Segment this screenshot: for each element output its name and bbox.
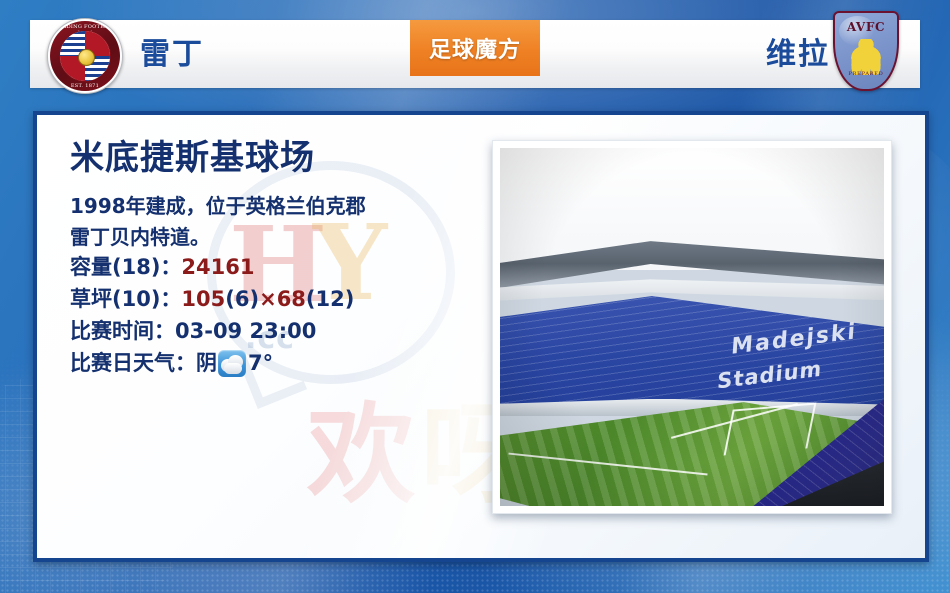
pitch-size-row: 草坪(10)：105(6)×68(12) (70, 284, 490, 316)
capacity-row: 容量(18)：24161 (70, 252, 490, 284)
cloudy-icon (218, 350, 246, 377)
reading-fc-crest[interactable]: READING FOOTBALL CLUB EST. 1871 (47, 18, 123, 94)
pitch-length-rank: (6) (225, 287, 259, 311)
pitch-length-value: 105 (181, 287, 225, 311)
pitch-width-rank: (12) (306, 287, 354, 311)
match-time-row: 比赛时间：03-09 23:00 (70, 316, 490, 348)
crest-shield-shape: AVFC PREPARED (833, 11, 899, 91)
stadium-info-block: 米底捷斯基球场 1998年建成，位于英格兰伯克郡 雷丁贝内特道。 容量(18)：… (70, 140, 490, 380)
pitch-label: 草坪(10)： (70, 287, 181, 311)
aston-villa-crest[interactable]: AVFC PREPARED (833, 11, 899, 91)
crest-inner-shield (59, 30, 111, 82)
crest-motto: PREPARED (835, 71, 897, 77)
brand-logo[interactable]: 足球魔方 (410, 20, 540, 76)
stadium-title: 米底捷斯基球场 (70, 140, 490, 177)
brand-logo-label: 足球魔方 (429, 32, 521, 64)
weather-temperature: 7° (248, 348, 273, 380)
crest-football-icon (78, 49, 95, 66)
stadium-photo-image: Madejski Stadium (500, 148, 884, 506)
stadium-description-line-2: 雷丁贝内特道。 (70, 222, 490, 252)
photo-vignette (500, 148, 884, 506)
match-weather-row: 比赛日天气：阴7° (70, 348, 490, 380)
pitch-width-value: 68 (277, 287, 306, 311)
match-time-value: 03-09 23:00 (175, 319, 316, 343)
stadium-info-card: READING FOOTBALL CLUB EST. 1871 雷丁 足球魔方 … (0, 0, 950, 593)
crest-established-year: EST. 1871 (50, 83, 120, 89)
weather-label: 比赛日天气： (70, 348, 196, 380)
lion-icon (850, 39, 882, 75)
stadium-description-line-1: 1998年建成，位于英格兰伯克郡 (70, 191, 490, 221)
capacity-value: 24161 (181, 255, 254, 279)
watermark-char-1: 欢 (307, 393, 421, 518)
pitch-times-symbol: × (259, 287, 277, 311)
content-panel: H Y .cc 欢呀 米底捷斯基球场 1998年建成，位于英格兰伯克郡 雷丁贝内… (33, 111, 929, 562)
weather-condition: 阴 (196, 348, 217, 380)
stadium-photo[interactable]: Madejski Stadium (492, 140, 892, 514)
crest-initials: AVFC (835, 20, 897, 34)
away-team-name[interactable]: 维拉 (766, 29, 830, 73)
match-time-label: 比赛时间： (70, 319, 175, 343)
home-team-name[interactable]: 雷丁 (140, 29, 204, 73)
capacity-label: 容量(18)： (70, 255, 181, 279)
